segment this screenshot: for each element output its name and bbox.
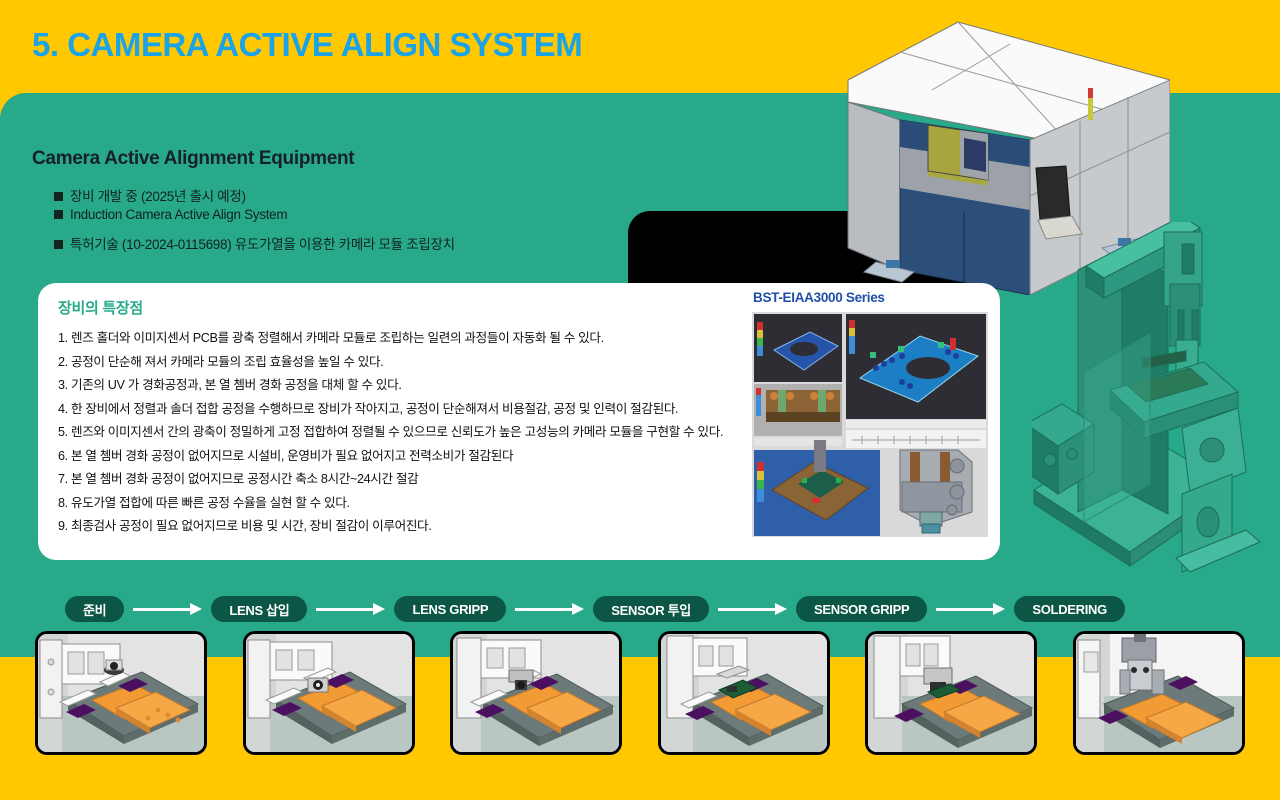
process-thumbnail-4[interactable] <box>865 631 1037 755</box>
process-flow: 준비 LENS 삽입 LENS GRIPP SENSOR 투입 SENSOR G… <box>65 595 1125 623</box>
flow-step-label: LENS GRIPP <box>412 602 488 617</box>
process-thumbnail-0[interactable] <box>35 631 207 755</box>
process-thumbnail-5[interactable] <box>1073 631 1245 755</box>
flow-step-label: SOLDERING <box>1032 602 1107 617</box>
flow-step-label: SENSOR 투입 <box>611 600 691 619</box>
flow-step-label: LENS 삽입 <box>229 600 289 619</box>
flow-step-3[interactable]: SENSOR 투입 <box>593 596 709 622</box>
process-thumbnail-2[interactable] <box>450 631 622 755</box>
bullet-text: Induction Camera Active Align System <box>70 206 287 223</box>
equipment-bullet-list: 장비 개발 중 (2025년 출시 예정) Induction Camera A… <box>54 188 574 254</box>
bullet-item: 장비 개발 중 (2025년 출시 예정) <box>54 188 574 205</box>
flow-step-1[interactable]: LENS 삽입 <box>211 596 307 622</box>
flow-step-5[interactable]: SOLDERING <box>1014 596 1125 622</box>
square-bullet-icon <box>54 192 63 201</box>
arrow-right-icon <box>316 602 385 616</box>
equipment-heading: Camera Active Alignment Equipment <box>32 148 354 170</box>
square-bullet-icon <box>54 210 63 219</box>
arrow-right-icon <box>718 602 787 616</box>
square-bullet-icon <box>54 240 63 249</box>
process-thumbnail-3[interactable] <box>658 631 830 755</box>
bullet-item: 특허기술 (10-2024-0115698) 유도가열을 이용한 카메라 모듈 … <box>54 236 574 253</box>
arrow-right-icon <box>936 602 1005 616</box>
flow-step-label: SENSOR GRIPP <box>814 602 909 617</box>
series-analysis-image <box>752 312 988 537</box>
gantry-render-image <box>1032 222 1280 582</box>
flow-step-4[interactable]: SENSOR GRIPP <box>796 596 927 622</box>
bullet-text: 장비 개발 중 (2025년 출시 예정) <box>70 188 246 205</box>
process-thumbnail-strip <box>35 631 1245 755</box>
flow-step-2[interactable]: LENS GRIPP <box>394 596 506 622</box>
arrow-right-icon <box>515 602 584 616</box>
page-title: 5. CAMERA ACTIVE ALIGN SYSTEM <box>32 26 582 64</box>
flow-step-label: 준비 <box>83 600 106 619</box>
flow-step-0[interactable]: 준비 <box>65 596 124 622</box>
feature-card-title: 장비의 특장점 <box>58 297 143 318</box>
process-thumbnail-1[interactable] <box>243 631 415 755</box>
bullet-item: Induction Camera Active Align System <box>54 206 574 223</box>
slide-root: 5. CAMERA ACTIVE ALIGN SYSTEM <box>0 0 1280 800</box>
arrow-right-icon <box>133 602 202 616</box>
series-label: BST-EIAA3000 Series <box>753 290 885 305</box>
bullet-text: 특허기술 (10-2024-0115698) 유도가열을 이용한 카메라 모듈 … <box>70 236 455 253</box>
